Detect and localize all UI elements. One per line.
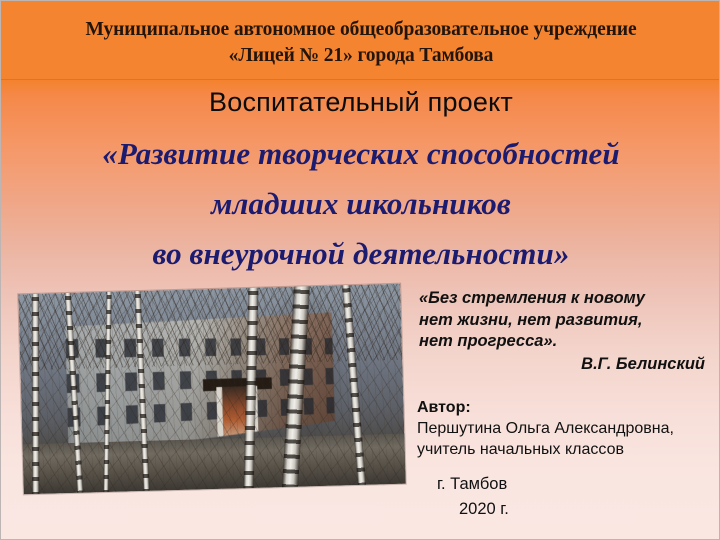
- header-band-divider: [1, 79, 720, 80]
- project-title-line-1: «Развитие творческих способностей: [1, 129, 720, 179]
- author-block: Автор: Першутина Ольга Александровна, уч…: [417, 397, 717, 460]
- place-text: г. Тамбов: [437, 472, 717, 497]
- author-label: Автор:: [417, 397, 717, 418]
- project-kicker: Воспитательный проект: [1, 86, 720, 118]
- project-title-line-3: во внеурочной деятельности»: [1, 229, 720, 279]
- year-text: 2020 г.: [437, 497, 717, 522]
- project-title: «Развитие творческих способностей младши…: [1, 129, 720, 279]
- institution-header-line-1: Муниципальное автономное общеобразовател…: [1, 17, 720, 43]
- quote-line-3: нет прогресса».: [419, 331, 711, 353]
- institution-header: Муниципальное автономное общеобразовател…: [1, 17, 720, 69]
- project-title-line-2: младших школьников: [1, 179, 720, 229]
- epigraph-quote: «Без стремления к новому нет жизни, нет …: [419, 288, 711, 375]
- school-building-photo: [18, 284, 405, 495]
- author-name: Першутина Ольга Александровна,: [417, 418, 717, 439]
- institution-header-line-2: «Лицей № 21» города Тамбова: [1, 43, 720, 69]
- birch-trunk: [32, 286, 39, 494]
- presentation-slide: Муниципальное автономное общеобразовател…: [0, 0, 720, 540]
- author-position: учитель начальных классов: [417, 439, 717, 460]
- place-year-block: г. Тамбов 2020 г.: [437, 472, 717, 522]
- photo-scene: [18, 284, 405, 495]
- quote-attribution: В.Г. Белинский: [419, 354, 711, 376]
- quote-line-1: «Без стремления к новому: [419, 288, 711, 310]
- quote-line-2: нет жизни, нет развития,: [419, 310, 711, 332]
